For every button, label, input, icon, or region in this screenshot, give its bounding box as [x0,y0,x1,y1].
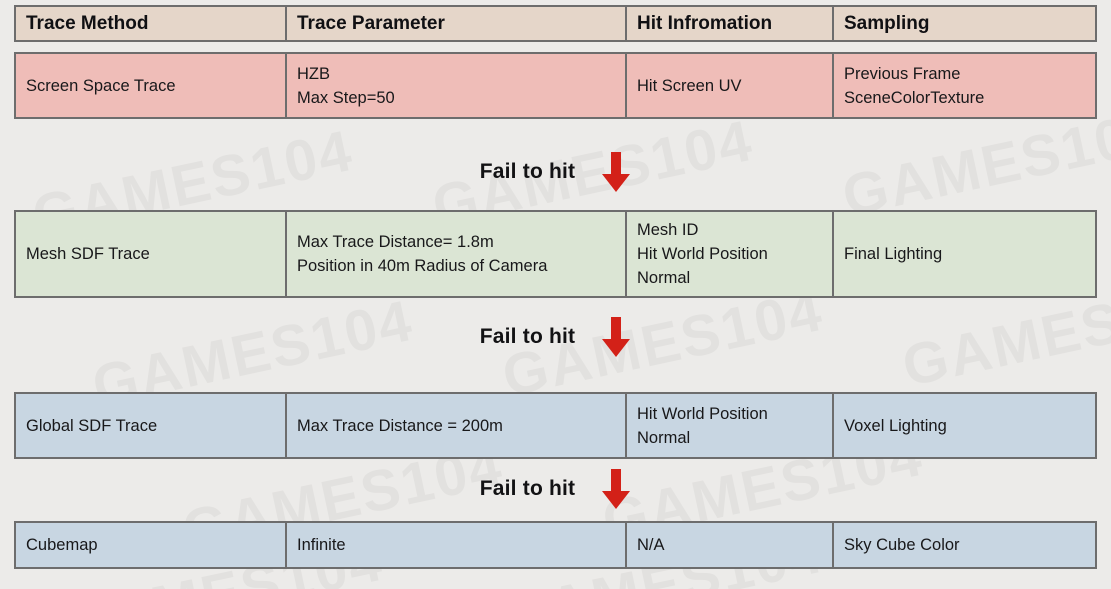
cell-hit-information: N/A [627,523,834,567]
cell-line: SceneColorTexture [844,86,1085,110]
cell-trace-parameter: Infinite [287,523,627,567]
cell-line: Mesh SDF Trace [26,242,275,266]
cell-line: Normal [637,426,822,450]
cell-line: Hit Screen UV [637,74,822,98]
cell-line: Normal [637,266,822,290]
connector-label: Fail to hit [480,477,576,501]
cell-trace-method: Mesh SDF Trace [16,212,287,296]
column-header-label: Trace Parameter [297,13,615,35]
table-row-mesh-sdf-trace: Mesh SDF Trace Max Trace Distance= 1.8m … [14,210,1097,298]
cell-line: Screen Space Trace [26,74,275,98]
cell-line: Max Step=50 [297,86,615,110]
cell-line: HZB [297,62,615,86]
column-header-hit-information: Hit Infromation [627,7,834,40]
cell-trace-parameter: HZB Max Step=50 [287,54,627,117]
cell-line: Position in 40m Radius of Camera [297,254,615,278]
column-header-sampling: Sampling [834,7,1095,40]
down-arrow-icon [601,150,631,194]
down-arrow-icon [601,315,631,359]
cell-line: Voxel Lighting [844,414,1085,438]
connector-fail-to-hit-2: Fail to hit [0,311,1111,363]
cell-trace-method: Cubemap [16,523,287,567]
cell-line: Sky Cube Color [844,533,1085,557]
connector-fail-to-hit-3: Fail to hit [0,463,1111,515]
cell-line: Max Trace Distance= 1.8m [297,230,615,254]
table-header-row: Trace Method Trace Parameter Hit Infroma… [14,5,1097,42]
trace-fallback-diagram: Trace Method Trace Parameter Hit Infroma… [0,0,1111,589]
cell-sampling: Final Lighting [834,212,1095,296]
cell-trace-method: Global SDF Trace [16,394,287,457]
cell-line: Infinite [297,533,615,557]
column-header-trace-parameter: Trace Parameter [287,7,627,40]
column-header-label: Hit Infromation [637,13,822,35]
cell-sampling: Sky Cube Color [834,523,1095,567]
cell-line: Hit World Position [637,402,822,426]
cell-trace-parameter: Max Trace Distance= 1.8m Position in 40m… [287,212,627,296]
table-row-screen-space-trace: Screen Space Trace HZB Max Step=50 Hit S… [14,52,1097,119]
cell-line: Mesh ID [637,218,822,242]
cell-trace-parameter: Max Trace Distance = 200m [287,394,627,457]
connector-label: Fail to hit [480,325,576,349]
column-header-trace-method: Trace Method [16,7,287,40]
down-arrow-icon [601,467,631,511]
cell-line: Final Lighting [844,242,1085,266]
connector-label: Fail to hit [480,160,576,184]
cell-sampling: Previous Frame SceneColorTexture [834,54,1095,117]
cell-line: Global SDF Trace [26,414,275,438]
cell-line: N/A [637,533,822,557]
cell-sampling: Voxel Lighting [834,394,1095,457]
cell-line: Previous Frame [844,62,1085,86]
cell-hit-information: Hit World Position Normal [627,394,834,457]
cell-trace-method: Screen Space Trace [16,54,287,117]
cell-line: Hit World Position [637,242,822,266]
table-row-cubemap: Cubemap Infinite N/A Sky Cube Color [14,521,1097,569]
column-header-label: Sampling [844,13,1085,35]
column-header-label: Trace Method [26,13,275,35]
connector-fail-to-hit-1: Fail to hit [0,146,1111,198]
cell-line: Max Trace Distance = 200m [297,414,615,438]
table-row-global-sdf-trace: Global SDF Trace Max Trace Distance = 20… [14,392,1097,459]
cell-line: Cubemap [26,533,275,557]
cell-hit-information: Mesh ID Hit World Position Normal [627,212,834,296]
cell-hit-information: Hit Screen UV [627,54,834,117]
